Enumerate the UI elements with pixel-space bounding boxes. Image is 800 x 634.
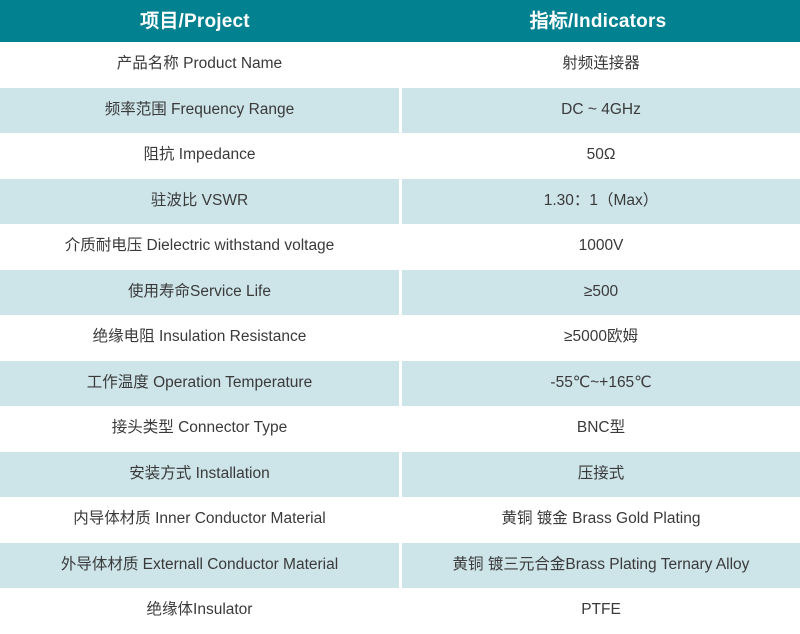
table-row: 驻波比 VSWR1.30：1（Max） [0, 179, 800, 225]
cell-project: 使用寿命Service Life [0, 270, 399, 316]
table-row: 产品名称 Product Name射频连接器 [0, 42, 800, 88]
cell-indicator: PTFE [402, 588, 800, 634]
cell-indicator: 50Ω [402, 133, 800, 179]
table-row: 使用寿命Service Life≥500 [0, 270, 800, 316]
cell-project: 绝缘体Insulator [0, 588, 399, 634]
cell-indicator: ≥5000欧姆 [402, 315, 800, 361]
table-row: 接头类型 Connector TypeBNC型 [0, 406, 800, 452]
table-row: 介质耐电压 Dielectric withstand voltage1000V [0, 224, 800, 270]
cell-project: 绝缘电阻 Insulation Resistance [0, 315, 399, 361]
column-header-indicators: 指标/Indicators [400, 0, 800, 42]
cell-project: 安装方式 Installation [0, 452, 399, 498]
table-row: 频率范围 Frequency RangeDC ~ 4GHz [0, 88, 800, 134]
cell-indicator: ≥500 [402, 270, 800, 316]
table-body: 产品名称 Product Name射频连接器频率范围 Frequency Ran… [0, 42, 800, 634]
cell-project: 驻波比 VSWR [0, 179, 399, 225]
cell-project: 阻抗 Impedance [0, 133, 399, 179]
cell-indicator: -55℃~+165℃ [402, 361, 800, 407]
cell-project: 频率范围 Frequency Range [0, 88, 399, 134]
table-row: 绝缘体InsulatorPTFE [0, 588, 800, 634]
table-row: 内导体材质 Inner Conductor Material黄铜 镀金 Bras… [0, 497, 800, 543]
table-header-row: 项目/Project 指标/Indicators [0, 0, 800, 42]
table-row: 安装方式 Installation压接式 [0, 452, 800, 498]
cell-indicator: 1.30：1（Max） [402, 179, 800, 225]
cell-project: 接头类型 Connector Type [0, 406, 399, 452]
cell-project: 工作温度 Operation Temperature [0, 361, 399, 407]
cell-indicator: 1000V [402, 224, 800, 270]
cell-project: 内导体材质 Inner Conductor Material [0, 497, 399, 543]
table-row: 外导体材质 Externall Conductor Material黄铜 镀三元… [0, 543, 800, 589]
cell-indicator: 黄铜 镀金 Brass Gold Plating [402, 497, 800, 543]
column-header-project: 项目/Project [0, 0, 400, 42]
table-row: 工作温度 Operation Temperature-55℃~+165℃ [0, 361, 800, 407]
cell-indicator: 黄铜 镀三元合金Brass Plating Ternary Alloy [402, 543, 800, 589]
cell-indicator: 射频连接器 [402, 42, 800, 88]
cell-indicator: BNC型 [402, 406, 800, 452]
cell-project: 产品名称 Product Name [0, 42, 399, 88]
cell-project: 外导体材质 Externall Conductor Material [0, 543, 399, 589]
cell-indicator: 压接式 [402, 452, 800, 498]
table-row: 绝缘电阻 Insulation Resistance≥5000欧姆 [0, 315, 800, 361]
cell-indicator: DC ~ 4GHz [402, 88, 800, 134]
table-row: 阻抗 Impedance50Ω [0, 133, 800, 179]
specification-table: 项目/Project 指标/Indicators 产品名称 Product Na… [0, 0, 800, 634]
cell-project: 介质耐电压 Dielectric withstand voltage [0, 224, 399, 270]
